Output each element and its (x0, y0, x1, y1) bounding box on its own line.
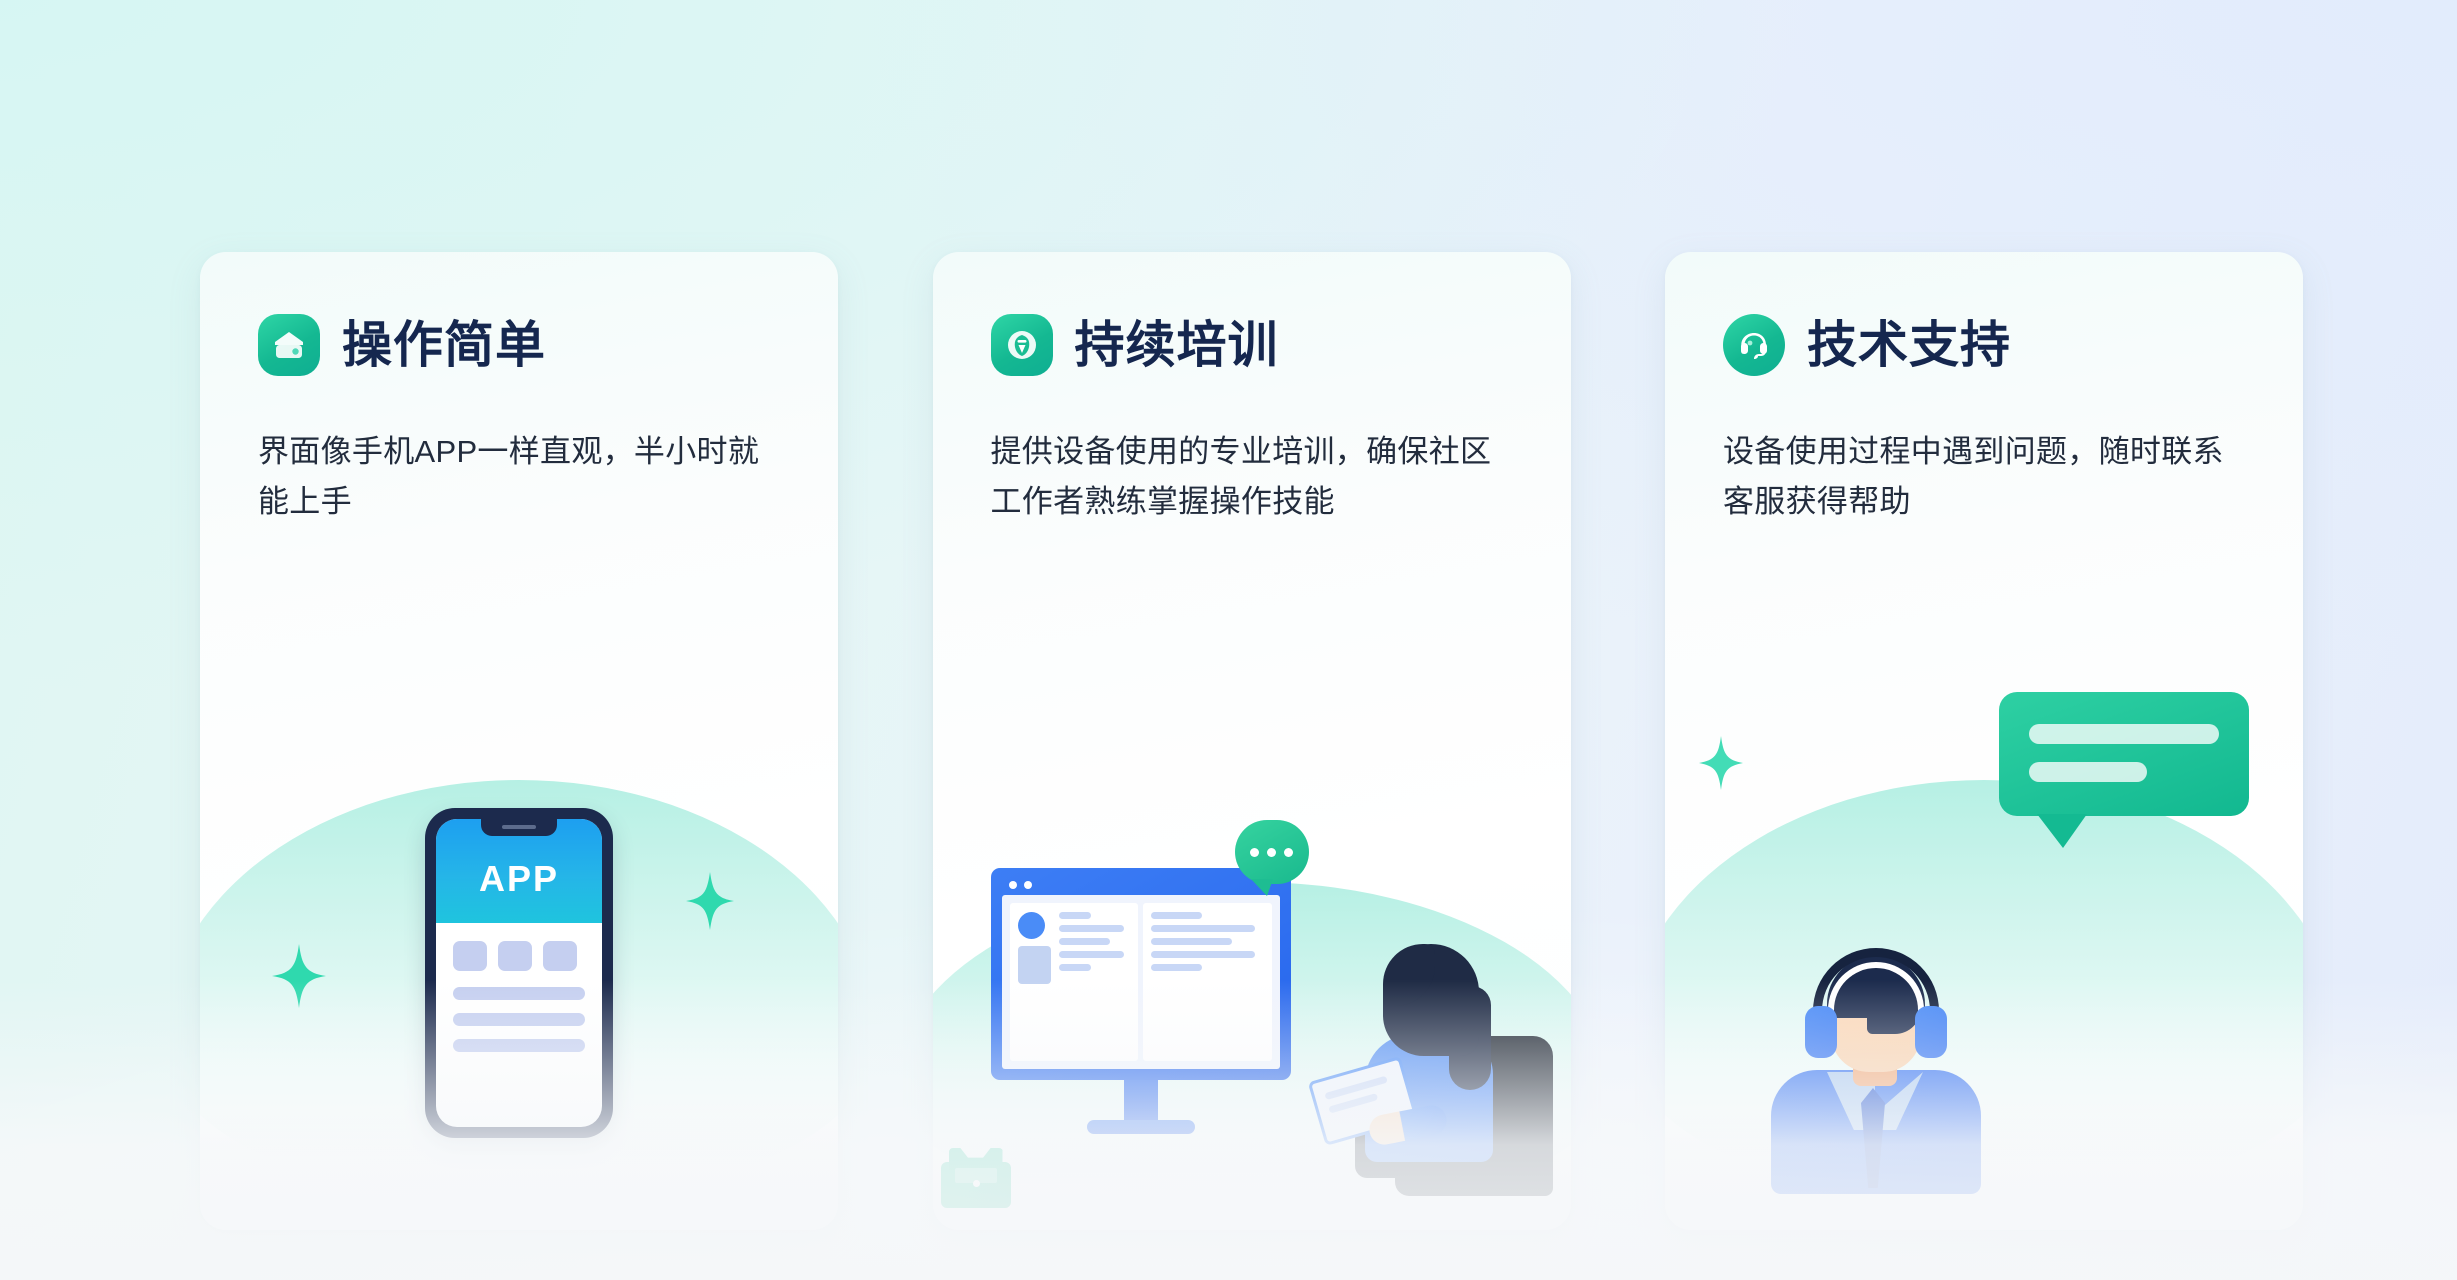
phone-tile (453, 941, 487, 971)
phone-app-header: APP (436, 819, 602, 923)
seated-person (1321, 926, 1553, 1196)
monitor-stand (1124, 1080, 1158, 1120)
support-agent-figure (1761, 894, 1991, 1194)
support-agent-illustration (1665, 670, 2303, 1230)
phone-tile (543, 941, 577, 971)
avatar (1018, 912, 1045, 939)
monitor-frame (991, 868, 1291, 1080)
headset-earcup (1915, 1006, 1947, 1058)
feature-card-row: 操作简单 界面像手机APP一样直观，半小时就能上手 (200, 252, 2303, 1230)
text-line (1151, 925, 1255, 932)
bubble-text-line (2029, 724, 2219, 744)
bubble-dot (1284, 848, 1293, 857)
shield-arrow-icon (991, 314, 1053, 376)
headset-earcup (1805, 1006, 1837, 1058)
text-line (1151, 912, 1202, 919)
phone-line (453, 1013, 585, 1026)
text-line (1059, 938, 1110, 945)
text-line (1151, 964, 1202, 971)
toolbox-knob (973, 1180, 980, 1187)
phone-tile-row (436, 923, 602, 971)
phone-notch (481, 819, 557, 836)
text-line (1151, 938, 1232, 945)
speech-bubble (1999, 692, 2249, 816)
toolbox-icon (941, 1148, 1011, 1208)
card-description: 提供设备使用的专业培训，确保社区工作者熟练掌握操作技能 (991, 427, 1511, 527)
monitor-base (1087, 1120, 1195, 1134)
window-dot (1009, 881, 1017, 889)
card-header: 操作简单 (258, 314, 546, 376)
monitor-titlebar (998, 875, 1284, 895)
toolbox-lid (949, 1148, 1003, 1170)
bubble-dot (1250, 848, 1259, 857)
thumbnail (1018, 946, 1051, 984)
bubble-dot (1267, 848, 1276, 857)
window-dot (1024, 881, 1032, 889)
bubble-text-line (2029, 762, 2147, 782)
card-description: 界面像手机APP一样直观，半小时就能上手 (258, 427, 778, 527)
card-title: 技术支持 (1807, 320, 2011, 370)
sparkle-icon (1699, 736, 1743, 790)
page-root: 操作简单 界面像手机APP一样直观，半小时就能上手 (0, 0, 2457, 1280)
phone-mockup: APP (425, 808, 613, 1138)
feature-card-operation-simple[interactable]: 操作简单 界面像手机APP一样直观，半小时就能上手 (200, 252, 838, 1230)
card-description: 设备使用过程中遇到问题，随时联系客服获得帮助 (1723, 427, 2243, 527)
sparkle-icon (686, 872, 734, 930)
document-page-right (1143, 903, 1272, 1061)
text-line (1151, 951, 1255, 958)
headset-support-icon (1723, 314, 1785, 376)
text-line (1059, 925, 1125, 932)
phone-line (453, 987, 585, 1000)
wallet-home-icon (258, 314, 320, 376)
card-header: 持续培训 (991, 314, 1279, 376)
phone-line-list (436, 971, 602, 1052)
sparkle-icon (272, 944, 326, 1008)
training-desktop-illustration (933, 670, 1571, 1230)
phone-screen: APP (436, 819, 602, 1127)
phone-line (453, 1039, 585, 1052)
card-title: 持续培训 (1075, 320, 1279, 370)
page-text-column (1059, 912, 1131, 1052)
chat-bubble-icon (1235, 820, 1309, 884)
text-line (1059, 964, 1091, 971)
document-page-left (1010, 903, 1139, 1061)
card-title: 操作简单 (342, 320, 546, 370)
text-line (1059, 912, 1091, 919)
text-line (1324, 1076, 1388, 1100)
phone-app-illustration: APP (200, 670, 838, 1230)
card-header: 技术支持 (1723, 314, 2011, 376)
monitor-screen (1002, 895, 1280, 1069)
phone-tile (498, 941, 532, 971)
monitor-mockup (991, 868, 1291, 1134)
phone-app-label: APP (479, 858, 559, 900)
feature-card-continuous-training[interactable]: 持续培训 提供设备使用的专业培训，确保社区工作者熟练掌握操作技能 (933, 252, 1571, 1230)
text-line (1059, 951, 1125, 958)
feature-card-technical-support[interactable]: 技术支持 设备使用过程中遇到问题，随时联系客服获得帮助 (1665, 252, 2303, 1230)
page-media-column (1018, 912, 1051, 1052)
